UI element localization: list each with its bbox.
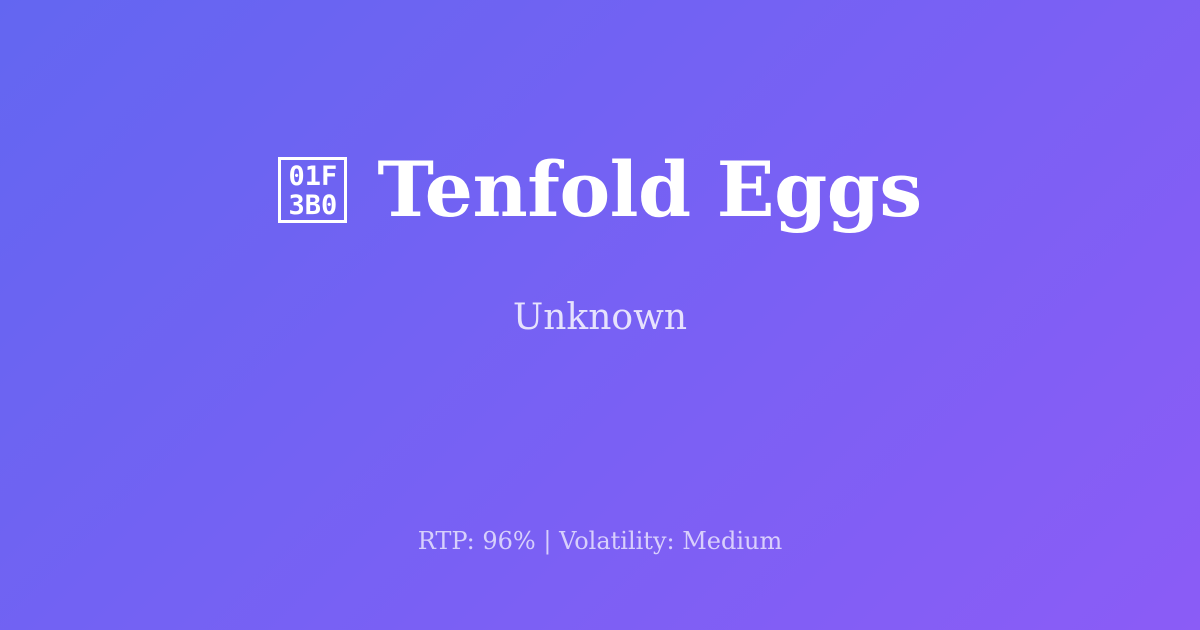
page-title: Tenfold Eggs — [377, 148, 921, 232]
hero-section: 01F 3B0 Tenfold Eggs Unknown — [0, 0, 1200, 470]
slot-machine-icon: 01F 3B0 — [278, 157, 347, 223]
title-row: 01F 3B0 Tenfold Eggs — [278, 148, 921, 232]
meta-footer: RTP: 96% | Volatility: Medium — [0, 524, 1200, 558]
og-share-card: 01F 3B0 Tenfold Eggs Unknown RTP: 96% | … — [0, 0, 1200, 630]
game-meta-line: RTP: 96% | Volatility: Medium — [0, 524, 1200, 558]
glyph-codepoint-line-1: 01F — [288, 162, 337, 191]
glyph-codepoint-line-2: 3B0 — [288, 191, 337, 220]
game-subtitle: Unknown — [513, 296, 687, 340]
